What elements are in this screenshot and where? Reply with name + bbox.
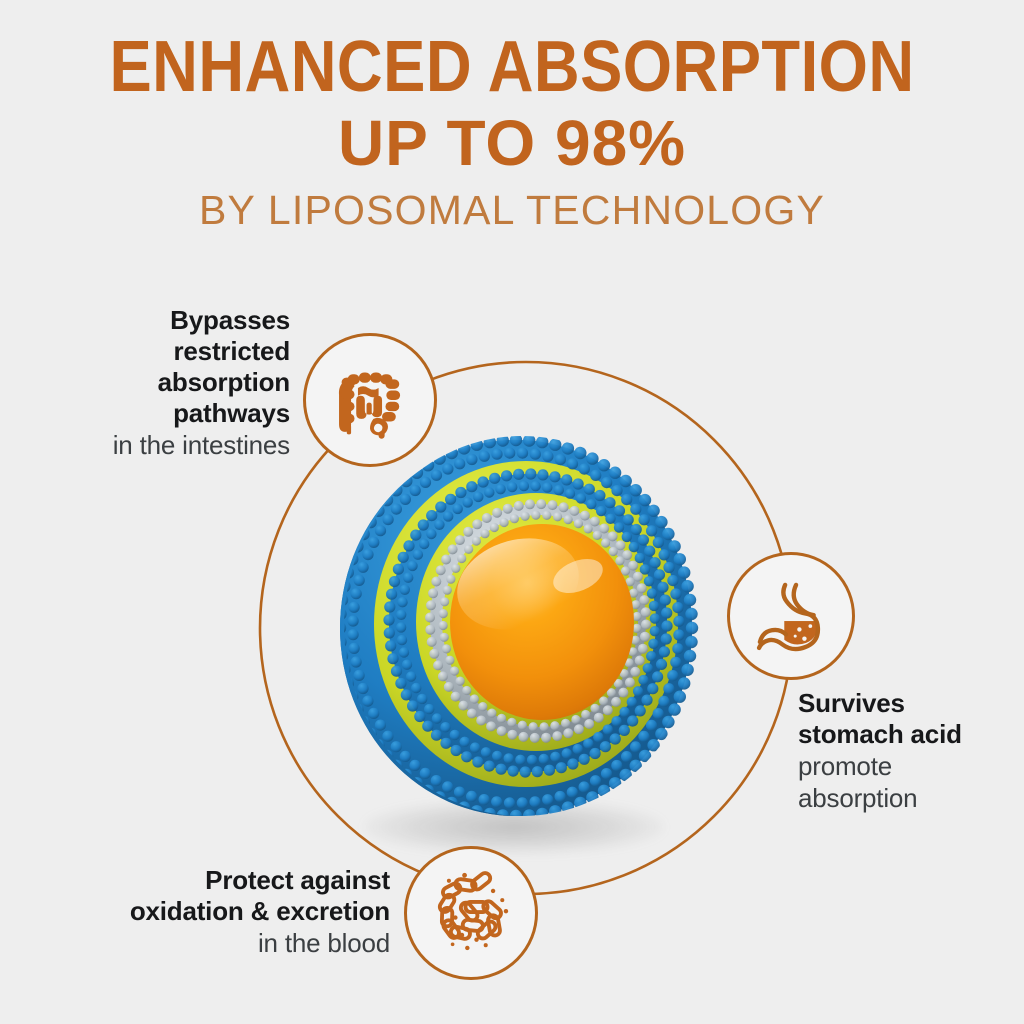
icon-circle-stomach[interactable] [727, 552, 855, 680]
infographic-canvas: ENHANCED ABSORPTION UP TO 98% BY LIPOSOM… [0, 0, 1024, 1024]
callout-intestines-light-0: in the intestines [20, 429, 290, 461]
callout-stomach-bold-1: stomach acid [798, 719, 1018, 750]
molecule-chain-icon [425, 867, 517, 959]
callout-intestines-bold-1: restricted [20, 336, 290, 367]
callout-stomach: Survives stomach acid promote absorption [798, 688, 1018, 814]
callout-stomach-bold-0: Survives [798, 688, 1018, 719]
callout-intestines-bold-0: Bypasses [20, 305, 290, 336]
icon-circle-intestines[interactable] [303, 333, 437, 467]
callout-intestines-bold-2: absorption [20, 367, 290, 398]
callout-stomach-light-1: absorption [798, 782, 1018, 814]
callout-intestines-bold-3: pathways [20, 398, 290, 429]
callout-blood-bold-0: Protect against [10, 865, 390, 896]
callout-intestines: Bypasses restricted absorption pathways … [20, 305, 290, 461]
callout-blood: Protect against oxidation & excretion in… [10, 865, 390, 959]
callout-blood-bold-1: oxidation & excretion [10, 896, 390, 927]
liposome-illustration [330, 424, 714, 828]
callout-blood-light-0: in the blood [10, 927, 390, 959]
stomach-icon [749, 574, 833, 658]
intestine-icon [327, 357, 413, 443]
callout-stomach-light-0: promote [798, 750, 1018, 782]
icon-circle-blood[interactable] [404, 846, 538, 980]
